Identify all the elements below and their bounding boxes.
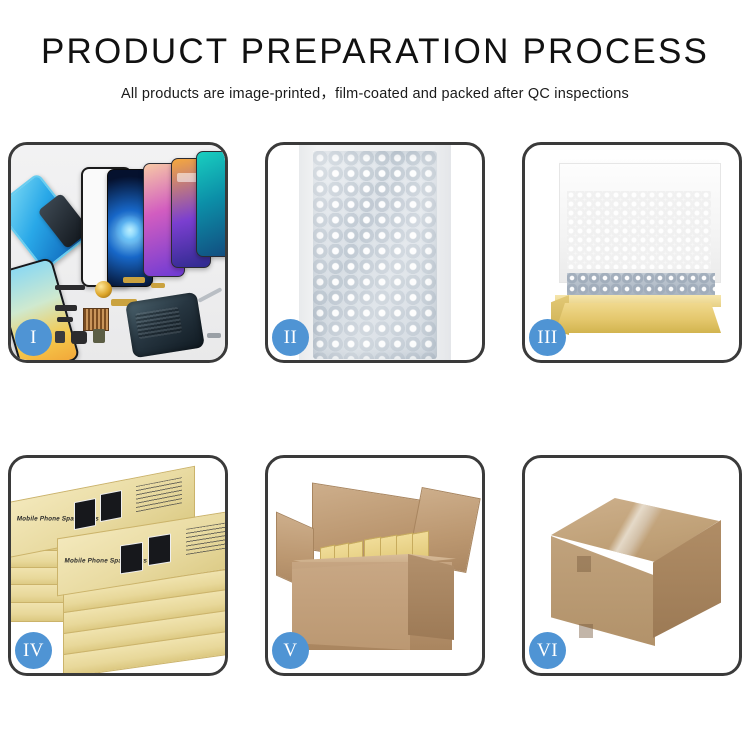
carton-front-face [292,562,410,650]
flex-cable-strip [55,285,85,290]
step-badge-2: II [272,319,309,356]
carton-tab-lower [579,624,593,638]
flex-cable-gold-1 [123,277,145,283]
screw-set [207,333,221,338]
step-panel-3: III [522,142,742,363]
step-badge-4: IV [15,632,52,669]
chip-array [83,308,109,331]
process-steps-grid: I II III [8,142,742,676]
step-panel-5: V [265,455,485,676]
jellyfish-glow [115,215,145,245]
retail-box-screen-img-3 [120,542,143,575]
step-panel-6: VI [522,455,742,676]
flex-cable-gold-2 [151,283,165,288]
small-connector-2 [57,317,73,322]
phone-back-housing [125,292,205,359]
camera-module [93,329,105,343]
step-badge-3: III [529,319,566,356]
step-panel-1: I [8,142,228,363]
foam-liner [567,191,711,269]
retail-box-spec-lines-front [186,522,225,555]
carton-tab-upper [577,556,591,572]
step-badge-1: I [15,319,52,356]
step-panel-2: II [265,142,485,363]
speaker-module [71,331,87,344]
plastic-sheen [313,151,437,359]
small-connector-3 [55,331,65,343]
box-front-panel [555,303,721,333]
gold-coil-component [95,281,112,298]
step-badge-6: VI [529,632,566,669]
small-connector-1 [55,305,77,311]
carton-right-face [408,554,454,640]
step-panel-4: Mobile Phone Spare Parts Mobile Phone Sp… [8,455,228,676]
page-title: PRODUCT PREPARATION PROCESS [0,34,750,71]
step-badge-5: V [272,632,309,669]
phone-screen-teal [196,151,225,257]
page-subtitle: All products are image-printed，film-coat… [0,82,750,103]
retail-box-screen-img-1 [74,498,96,530]
page-header: PRODUCT PREPARATION PROCESS All products… [0,0,750,103]
retail-box-spec-lines-back [136,477,182,512]
retail-box-screen-img-2 [100,490,122,522]
retail-box-screen-img-4 [148,533,171,566]
